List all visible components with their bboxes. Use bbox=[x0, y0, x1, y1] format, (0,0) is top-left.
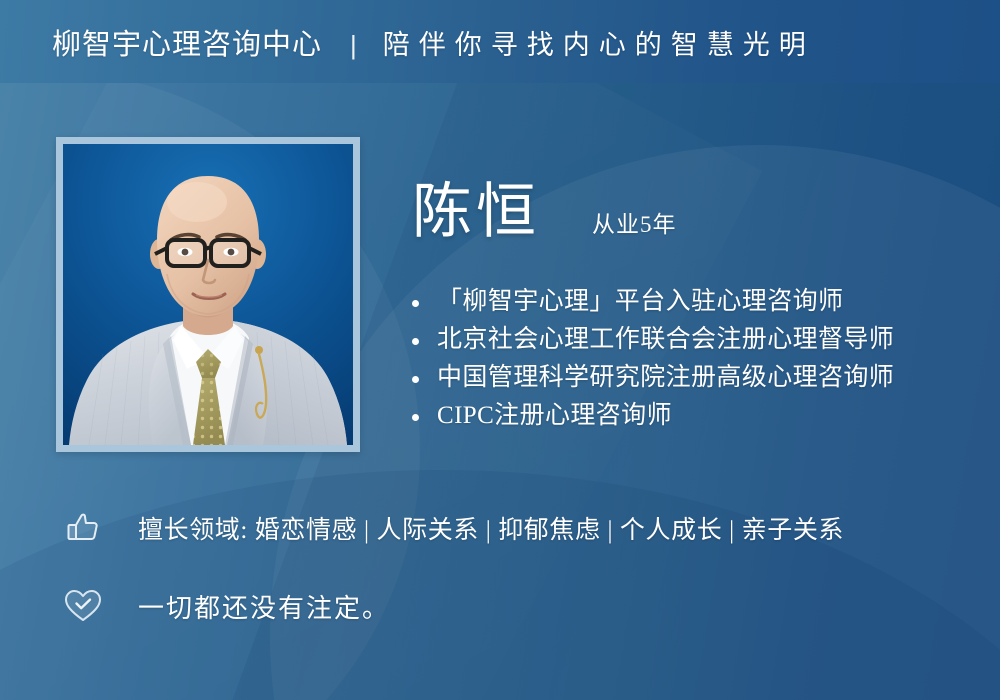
header-bar: 柳智宇心理咨询中心 | 陪伴你寻找内心的智慧光明 bbox=[0, 0, 1000, 83]
name-row: 陈恒 从业5年 bbox=[412, 182, 677, 242]
header-title: 柳智宇心理咨询中心 | 陪伴你寻找内心的智慧光明 bbox=[52, 21, 815, 63]
motto-text: 一切都还没有注定。 bbox=[138, 588, 390, 625]
portrait-photo bbox=[63, 144, 353, 445]
credential-item: CIPC注册心理咨询师 bbox=[404, 397, 1000, 435]
header-divider: | bbox=[350, 30, 357, 61]
brand-name: 柳智宇心理咨询中心 bbox=[52, 21, 322, 63]
portrait-frame bbox=[56, 137, 360, 452]
credential-item: 「柳智宇心理」平台入驻心理咨询师 bbox=[404, 283, 1000, 321]
credential-item: 北京社会心理工作联合会注册心理督导师 bbox=[404, 321, 1000, 359]
credentials-list: 「柳智宇心理」平台入驻心理咨询师 北京社会心理工作联合会注册心理督导师 中国管理… bbox=[404, 283, 1000, 435]
experience-years: 从业5年 bbox=[592, 205, 677, 239]
heart-check-icon bbox=[58, 582, 108, 630]
specialty-text: 擅长领域: 婚恋情感 | 人际关系 | 抑郁焦虑 | 个人成长 | 亲子关系 bbox=[138, 510, 844, 546]
portrait-illustration bbox=[63, 144, 353, 445]
motto-row: 一切都还没有注定。 bbox=[58, 582, 390, 630]
brand-slogan: 陪伴你寻找内心的智慧光明 bbox=[383, 23, 815, 62]
counselor-name: 陈恒 bbox=[412, 182, 540, 242]
specialty-row: 擅长领域: 婚恋情感 | 人际关系 | 抑郁焦虑 | 个人成长 | 亲子关系 bbox=[58, 504, 844, 552]
thumbs-up-icon bbox=[58, 504, 108, 552]
counselor-profile-card: 柳智宇心理咨询中心 | 陪伴你寻找内心的智慧光明 bbox=[0, 0, 1000, 700]
credential-item: 中国管理科学研究院注册高级心理咨询师 bbox=[404, 359, 1000, 397]
